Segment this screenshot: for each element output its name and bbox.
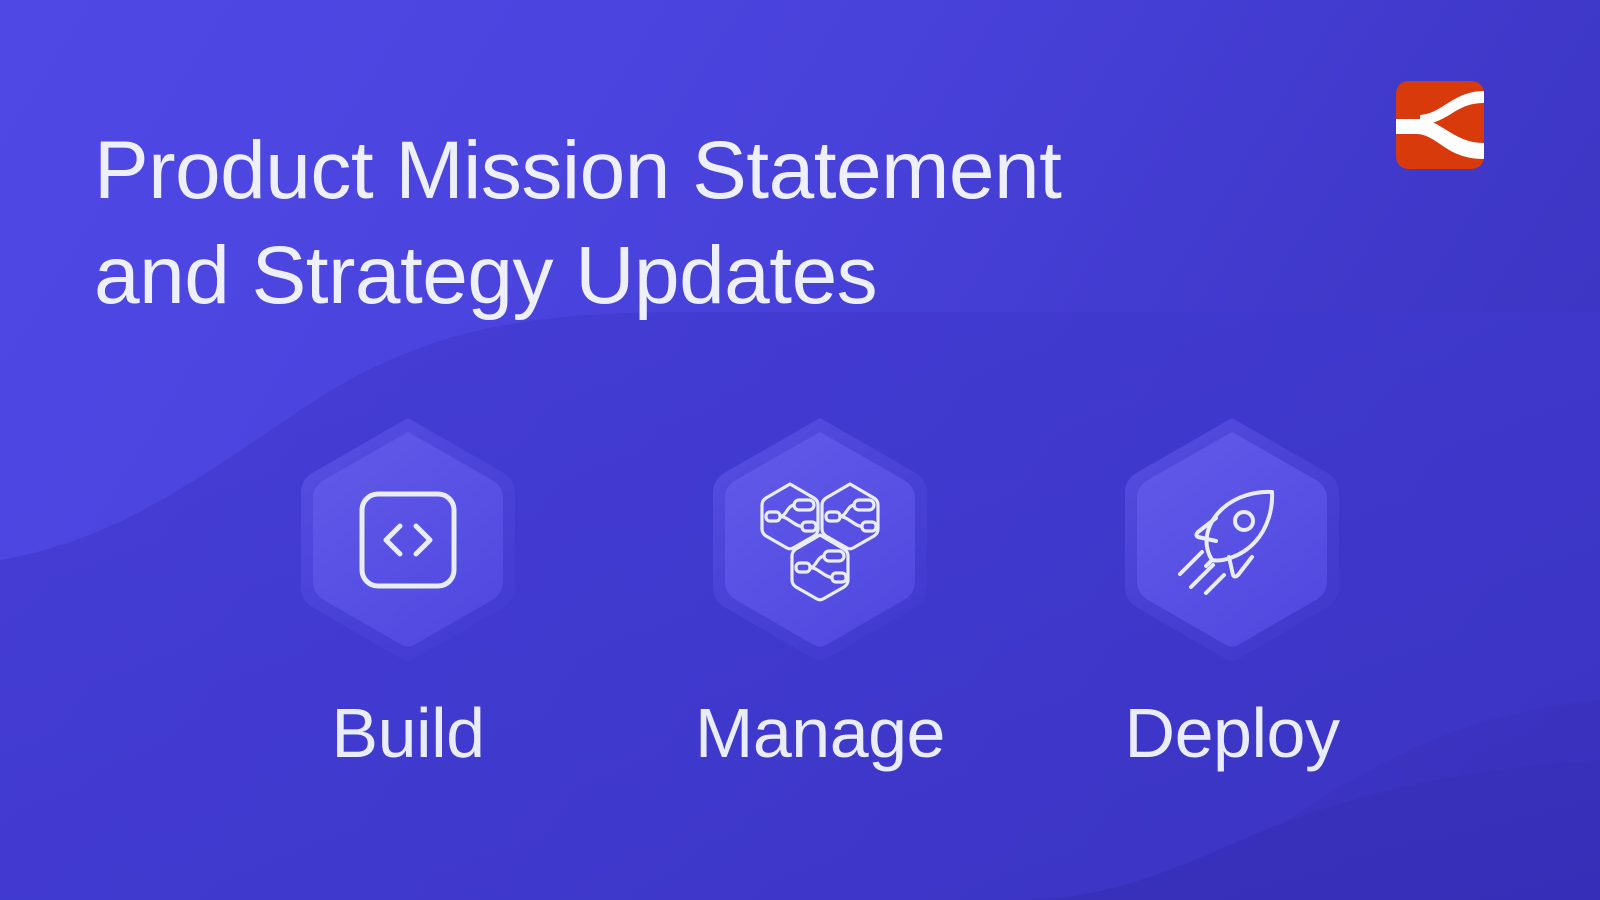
feature-manage[interactable]: Manage <box>680 410 960 768</box>
feature-label-build: Build <box>331 698 484 768</box>
hexagon-manage[interactable] <box>695 410 945 670</box>
feature-label-manage: Manage <box>695 698 945 768</box>
feature-label-deploy: Deploy <box>1125 698 1340 768</box>
code-brackets-icon <box>344 476 472 604</box>
feature-row: Build <box>0 410 1600 768</box>
hex-node-cluster-icon <box>756 476 884 604</box>
rocket-icon <box>1168 476 1296 604</box>
feature-build[interactable]: Build <box>268 410 548 768</box>
brand-logo <box>1396 81 1484 169</box>
slide-canvas: Product Mission Statement and Strategy U… <box>0 0 1600 900</box>
hexagon-deploy[interactable] <box>1107 410 1357 670</box>
hexagon-build[interactable] <box>283 410 533 670</box>
page-title: Product Mission Statement and Strategy U… <box>94 119 1244 329</box>
feature-deploy[interactable]: Deploy <box>1092 410 1372 768</box>
